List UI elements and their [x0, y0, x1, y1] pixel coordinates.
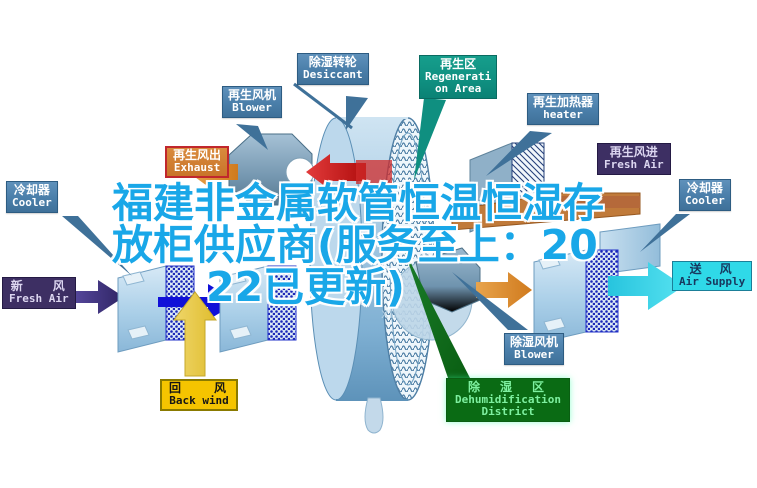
- label-regeneration-fresh-air-in-cn: 再生风进: [604, 146, 664, 159]
- label-regeneration-heater: 再生加热器 heater: [527, 93, 599, 125]
- label-desiccant-rotor-cn: 除湿转轮: [303, 56, 363, 69]
- label-regeneration-area-cn: 再生区: [425, 58, 491, 71]
- diagram-canvas: xfzx: [0, 0, 757, 488]
- watermark-line-1: 福建非金属软管恒温恒湿存: [112, 182, 649, 224]
- watermark-headline: 福建非金属软管恒温恒湿存 放柜供应商(服务至上：20 22已更新): [0, 182, 757, 308]
- label-regeneration-blower-en: Blower: [228, 102, 276, 114]
- label-dehumidification-district: 除 湿 区 Dehumidification District: [446, 378, 570, 422]
- label-dehumidification-district-en2: District: [455, 406, 561, 418]
- label-desiccant-rotor: 除湿转轮 Desiccant: [297, 53, 369, 85]
- label-desiccant-rotor-en: Desiccant: [303, 69, 363, 81]
- watermark-line-3: 22已更新): [112, 266, 649, 308]
- label-back-wind-cn: 回 风: [169, 382, 229, 395]
- label-regeneration-fresh-air-in: 再生风进 Fresh Air: [597, 143, 671, 175]
- label-regeneration-heater-en: heater: [533, 109, 593, 121]
- label-regeneration-exhaust: 再生风出 Exhaust: [165, 146, 229, 178]
- label-dehumidification-blower: 除湿风机 Blower: [504, 333, 564, 365]
- label-dehumidification-blower-cn: 除湿风机: [510, 336, 558, 349]
- label-regeneration-area: 再生区 Regenerati on Area: [419, 55, 497, 99]
- label-dehumidification-district-cn: 除 湿 区: [455, 381, 561, 394]
- label-regeneration-blower-cn: 再生风机: [228, 89, 276, 102]
- label-regeneration-exhaust-cn: 再生风出: [173, 149, 221, 162]
- label-regeneration-heater-cn: 再生加热器: [533, 96, 593, 109]
- watermark-line-2: 放柜供应商(服务至上：20: [112, 224, 649, 266]
- label-regeneration-exhaust-en: Exhaust: [173, 162, 221, 174]
- label-regeneration-fresh-air-in-en: Fresh Air: [604, 159, 664, 171]
- label-dehumidification-blower-en: Blower: [510, 349, 558, 361]
- label-regeneration-blower: 再生风机 Blower: [222, 86, 282, 118]
- label-back-wind-en: Back wind: [169, 395, 229, 407]
- label-regeneration-area-en2: on Area: [425, 83, 491, 95]
- label-back-wind: 回 风 Back wind: [160, 379, 238, 411]
